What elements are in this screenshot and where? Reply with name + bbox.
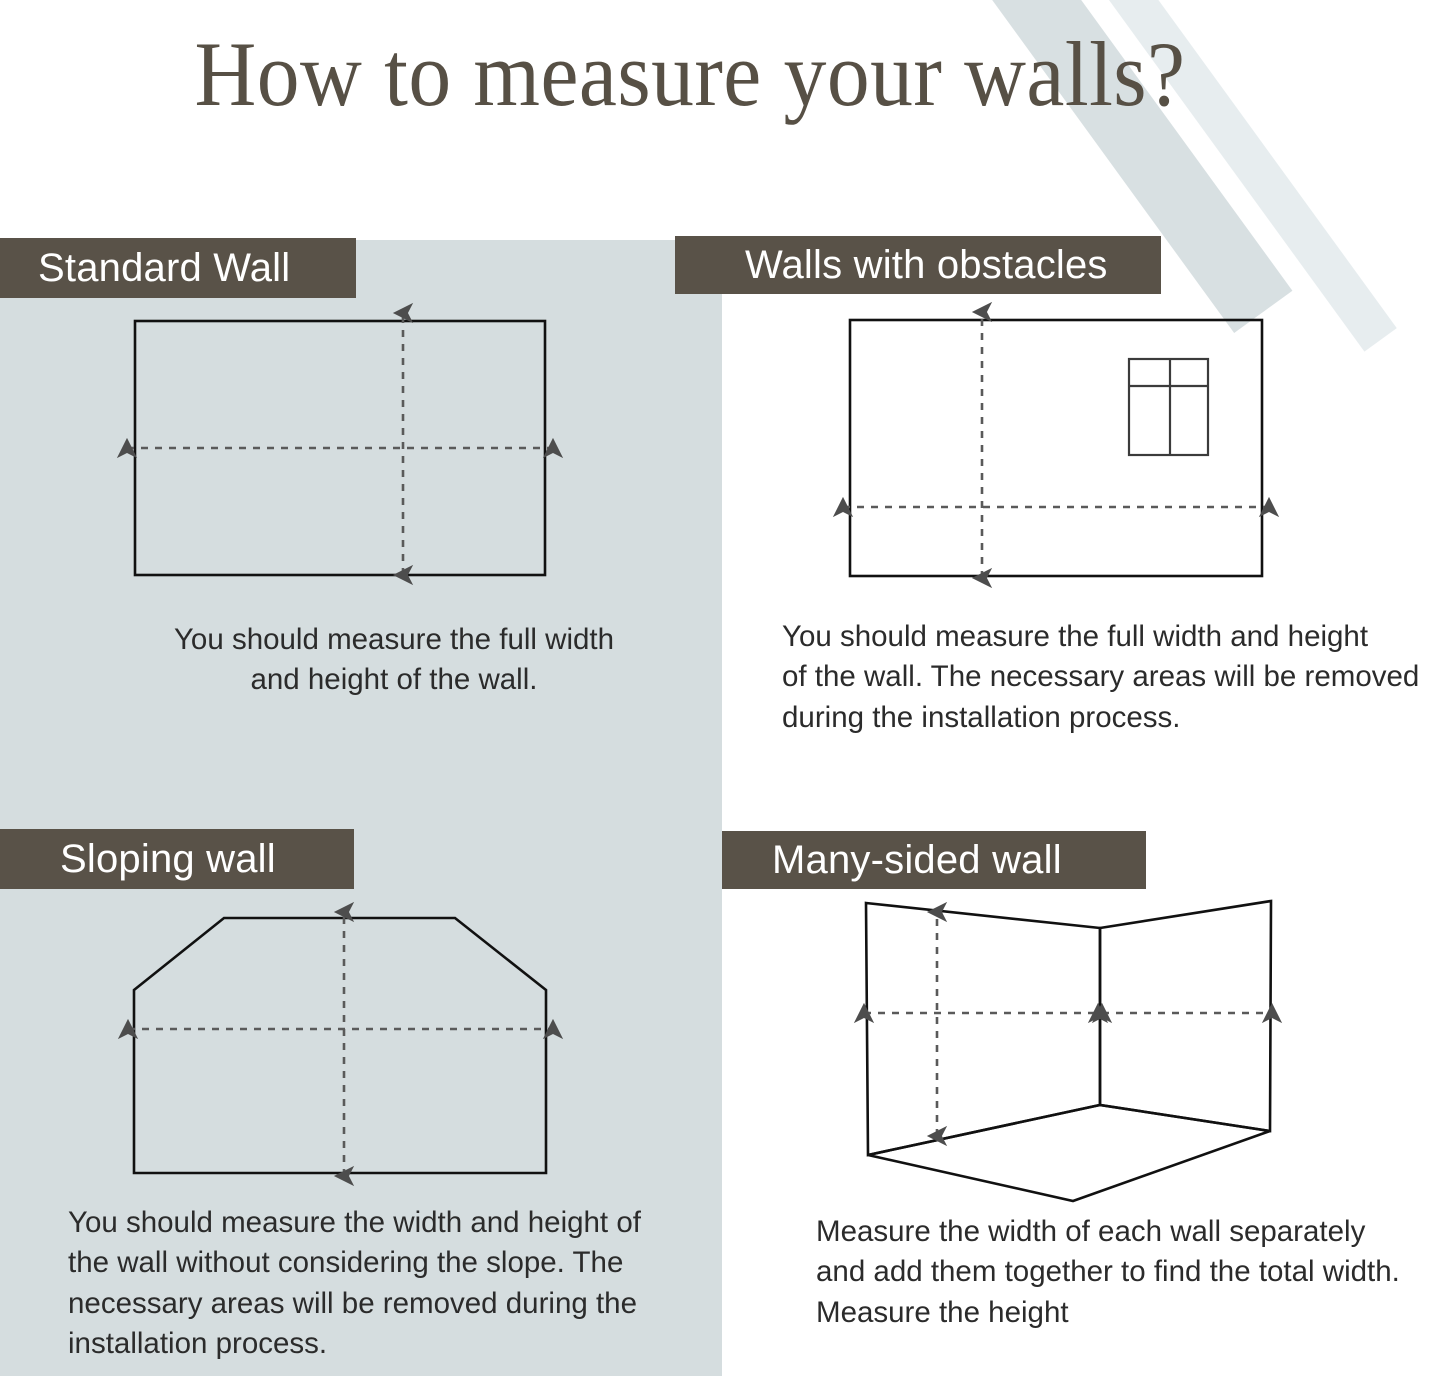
caption-many-sided-wall: Measure the width of each wall separatel… xyxy=(816,1212,1426,1333)
section-header-many-sided-wall-label: Many-sided wall xyxy=(772,840,1062,880)
infographic-root: How to measure your walls? Standard Wall… xyxy=(0,0,1445,1386)
page-title: How to measure your walls? xyxy=(48,26,1331,123)
corner-room-right-wall xyxy=(1100,901,1271,1131)
section-header-sloping-wall: Sloping wall xyxy=(0,829,354,889)
diagram-many-sided-wall xyxy=(864,901,1272,1201)
section-header-many-sided-wall: Many-sided wall xyxy=(722,831,1146,889)
section-header-standard-wall: Standard Wall xyxy=(0,238,356,298)
corner-room-left-wall xyxy=(866,903,1100,1155)
caption-standard-wall: You should measure the full width and he… xyxy=(104,620,684,701)
section-header-standard-wall-label: Standard Wall xyxy=(38,248,290,288)
caption-walls-with-obstacles: You should measure the full width and he… xyxy=(782,617,1422,738)
section-header-walls-with-obstacles: Walls with obstacles xyxy=(675,236,1161,294)
section-header-walls-with-obstacles-label: Walls with obstacles xyxy=(745,245,1108,285)
window-icon xyxy=(1129,359,1208,455)
obstacle-wall-outline xyxy=(850,320,1262,576)
section-header-sloping-wall-label: Sloping wall xyxy=(60,839,276,879)
caption-sloping-wall: You should measure the width and height … xyxy=(68,1203,668,1365)
corner-room-floor xyxy=(868,1105,1270,1201)
diagram-walls-with-obstacles xyxy=(843,312,1269,578)
